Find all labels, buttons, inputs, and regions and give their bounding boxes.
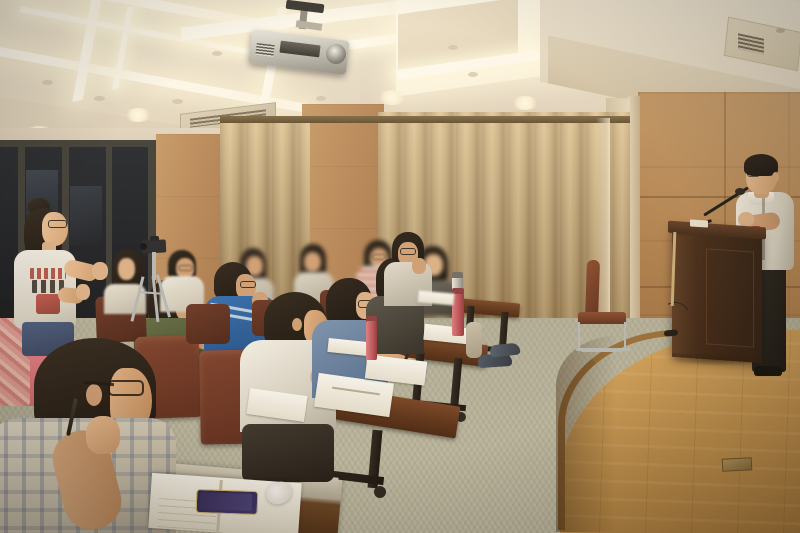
vignette [0,0,800,533]
lecture-hall-photo [0,0,800,533]
